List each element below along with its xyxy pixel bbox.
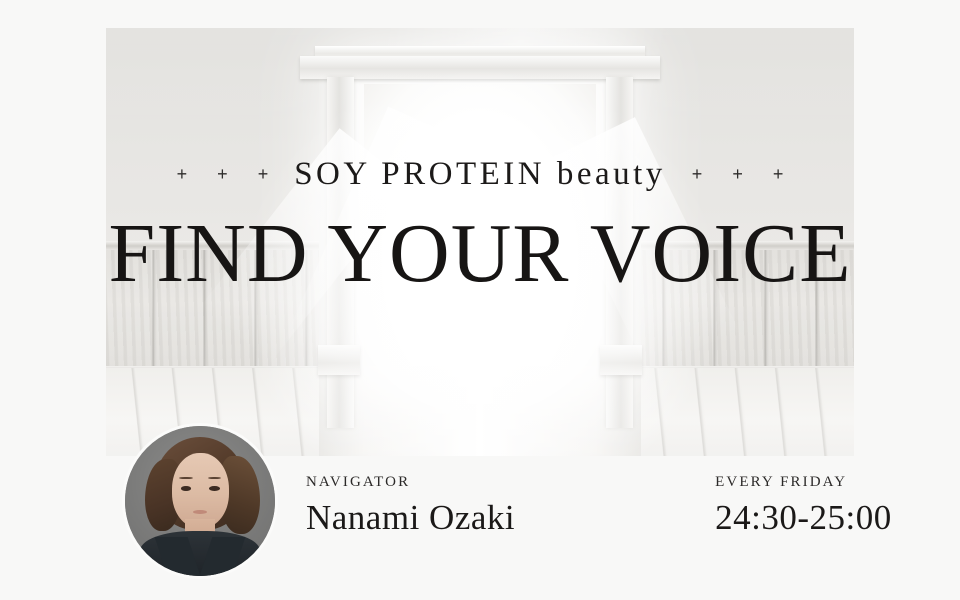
navigator-avatar xyxy=(122,423,278,579)
program-banner: + + + SOY PROTEIN beauty + + + FIND YOUR… xyxy=(0,0,960,600)
door-plinth-right xyxy=(600,345,642,375)
hero-background-image xyxy=(106,28,854,456)
schedule-column: EVERY FRIDAY 24:30-25:00 xyxy=(715,474,892,535)
footer-info: NAVIGATOR Nanami Ozaki EVERY FRIDAY 24:3… xyxy=(306,474,892,535)
door-jamb-right xyxy=(606,77,633,428)
avatar-eye-left xyxy=(181,486,192,491)
doorway-opening-light xyxy=(364,84,596,366)
schedule-day-label: EVERY FRIDAY xyxy=(715,474,892,491)
avatar-face xyxy=(172,453,229,528)
navigator-label: NAVIGATOR xyxy=(306,474,515,491)
navigator-column: NAVIGATOR Nanami Ozaki xyxy=(306,474,515,535)
door-pediment xyxy=(300,56,659,80)
avatar-lips xyxy=(193,510,207,514)
schedule-time: 24:30-25:00 xyxy=(715,500,892,535)
navigator-name: Nanami Ozaki xyxy=(306,500,515,535)
door-jamb-left xyxy=(327,77,354,428)
door-plinth-left xyxy=(318,345,360,375)
avatar-eye-right xyxy=(209,486,220,491)
